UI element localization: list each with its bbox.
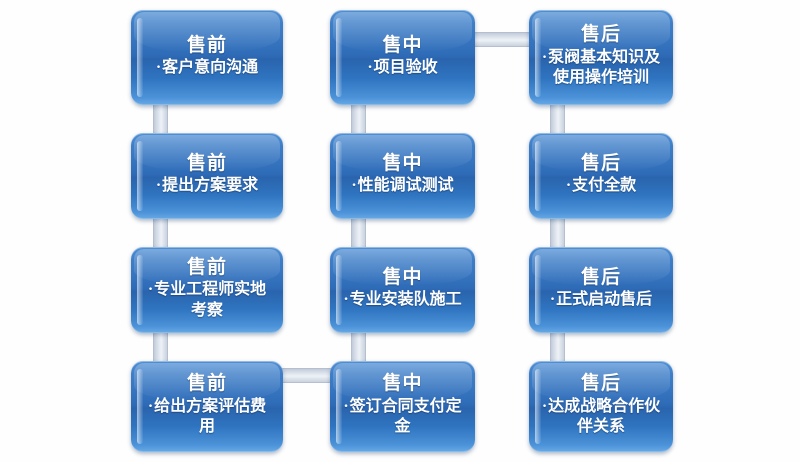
connector-col2-row2-row3 <box>351 218 366 248</box>
flowchart-canvas: 售前 ·客户意向沟通 售中 ·项目验收 售后 ·泵阀基本知识及使用操作培训 售前… <box>0 0 800 462</box>
node-aftersale-pump-valve-training[interactable]: 售后 ·泵阀基本知识及使用操作培训 <box>529 10 673 105</box>
node-text: ·专业工程师实地考察 <box>139 280 275 321</box>
node-aftersale-full-payment[interactable]: 售后 ·支付全款 <box>529 133 673 219</box>
node-title: 售后 <box>581 373 621 394</box>
bullet-glyph: · <box>343 291 348 308</box>
bullet-glyph: · <box>148 281 153 298</box>
bullet-glyph: · <box>367 59 372 76</box>
connector-row1-col2-col3 <box>474 32 534 47</box>
node-text: ·给出方案评估费用 <box>139 397 275 438</box>
bullet-glyph: · <box>156 177 161 194</box>
node-text-value: 泵阀基本知识及使用操作培训 <box>548 49 660 86</box>
bullet-glyph: · <box>566 177 571 194</box>
node-text-value: 客户意向沟通 <box>162 59 258 76</box>
node-text-value: 达成战略合作伙伴关系 <box>548 398 660 435</box>
node-text: ·性能调试测试 <box>349 176 455 196</box>
node-presale-customer-intent[interactable]: 售前 ·客户意向沟通 <box>131 10 283 105</box>
node-text: ·支付全款 <box>564 176 638 196</box>
connector-col3-row1-row2 <box>550 104 565 134</box>
node-aftersale-strategic-partnership[interactable]: 售后 ·达成战略合作伙伴关系 <box>529 361 673 452</box>
node-title: 售中 <box>382 267 422 288</box>
connector-col2-row3-row4 <box>351 332 366 362</box>
node-title: 售后 <box>581 153 621 174</box>
bullet-glyph: · <box>156 59 161 76</box>
connector-col3-row3-row4 <box>550 332 565 362</box>
node-text-value: 专业安装队施工 <box>350 291 462 308</box>
node-title: 售前 <box>187 153 227 174</box>
node-insale-project-acceptance[interactable]: 售中 ·项目验收 <box>330 10 475 105</box>
node-title: 售中 <box>382 373 422 394</box>
node-text-value: 正式启动售后 <box>556 291 652 308</box>
node-text: ·项目验收 <box>365 58 439 78</box>
connector-col1-row2-row3 <box>153 218 168 248</box>
node-insale-performance-testing[interactable]: 售中 ·性能调试测试 <box>330 133 475 219</box>
node-text: ·签订合同支付定金 <box>338 397 467 438</box>
node-text: ·泵阀基本知识及使用操作培训 <box>537 48 665 89</box>
node-text-value: 项目验收 <box>374 59 438 76</box>
node-presale-cost-estimate[interactable]: 售前 ·给出方案评估费用 <box>131 361 283 452</box>
node-title: 售中 <box>382 153 422 174</box>
bullet-glyph: · <box>542 49 547 66</box>
node-text-value: 签订合同支付定金 <box>350 398 462 435</box>
node-text-value: 性能调试测试 <box>358 177 454 194</box>
connector-row4-col1-col2 <box>276 368 336 383</box>
node-title: 售后 <box>581 24 621 45</box>
connector-col2-row1-row2 <box>351 104 366 134</box>
bullet-glyph: · <box>550 291 555 308</box>
node-aftersale-official-start[interactable]: 售后 ·正式启动售后 <box>529 247 673 333</box>
node-presale-proposal-requirements[interactable]: 售前 ·提出方案要求 <box>131 133 283 219</box>
node-title: 售前 <box>187 35 227 56</box>
node-text-value: 专业工程师实地考察 <box>154 281 266 318</box>
node-title: 售前 <box>187 257 227 278</box>
node-insale-contract-deposit[interactable]: 售中 ·签订合同支付定金 <box>330 361 475 452</box>
bullet-glyph: · <box>148 398 153 415</box>
node-text-value: 提出方案要求 <box>162 177 258 194</box>
bullet-glyph: · <box>542 398 547 415</box>
node-title: 售前 <box>187 373 227 394</box>
bullet-glyph: · <box>351 177 356 194</box>
node-text: ·正式启动售后 <box>548 290 654 310</box>
node-title: 售后 <box>581 267 621 288</box>
node-text-value: 给出方案评估费用 <box>154 398 266 435</box>
connector-col1-row1-row2 <box>153 104 168 134</box>
connector-col3-row2-row3 <box>550 218 565 248</box>
connector-col1-row3-row4 <box>153 332 168 362</box>
node-text: ·专业安装队施工 <box>341 290 463 310</box>
node-text: ·客户意向沟通 <box>154 58 260 78</box>
node-title: 售中 <box>382 35 422 56</box>
node-text-value: 支付全款 <box>572 177 636 194</box>
node-presale-engineer-site-survey[interactable]: 售前 ·专业工程师实地考察 <box>131 247 283 333</box>
node-insale-professional-installation[interactable]: 售中 ·专业安装队施工 <box>330 247 475 333</box>
node-text: ·提出方案要求 <box>154 176 260 196</box>
node-text: ·达成战略合作伙伴关系 <box>537 397 665 438</box>
bullet-glyph: · <box>343 398 348 415</box>
